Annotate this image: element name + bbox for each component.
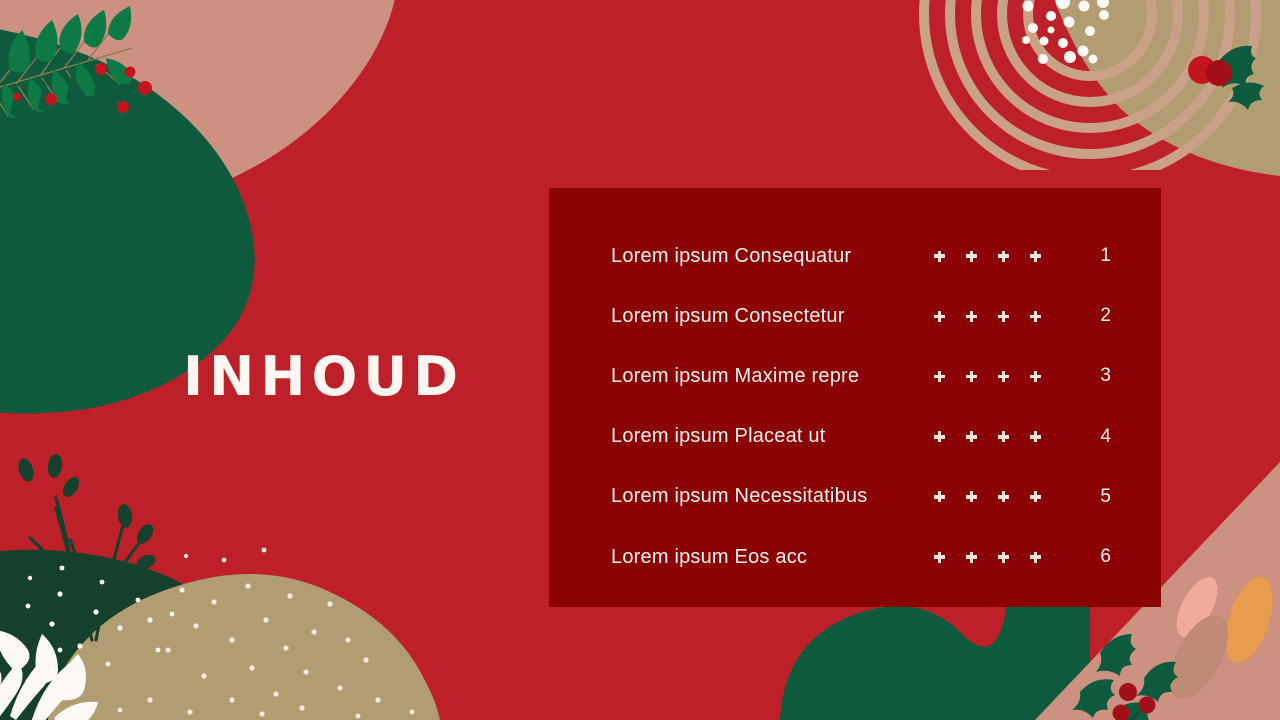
table-of-contents-list: Lorem ipsum Consequatur 1 Lorem ipsum Co… [611,226,1111,587]
toc-item-number: 1 [1085,245,1111,267]
toc-separator-group [934,251,1085,262]
toc-separator-group [934,552,1085,563]
list-item[interactable]: Lorem ipsum Necessitatibus 5 [611,467,1111,527]
decor-bottom-left [0,453,440,720]
quatrefoil-dot-icon [934,251,945,262]
decor-top-right [924,0,1280,180]
table-of-contents-panel: Lorem ipsum Consequatur 1 Lorem ipsum Co… [549,188,1161,607]
quatrefoil-dot-icon [998,552,1009,563]
list-item[interactable]: Lorem ipsum Consectetur 2 [611,286,1111,346]
leaf-shapes-top-left [0,6,132,118]
quatrefoil-dot-icon [1030,491,1041,502]
toc-separator-group [934,431,1085,442]
quatrefoil-dot-icon [934,371,945,382]
quatrefoil-dot-icon [934,491,945,502]
holly-top-right [1188,46,1264,110]
confetti-dots-top-right [1022,0,1109,64]
berry-sprigs-bottom-left [30,498,92,640]
quatrefoil-dot-icon [966,311,977,322]
toc-item-number: 3 [1085,365,1111,387]
toc-item-label: Lorem ipsum Eos acc [611,546,807,569]
quatrefoil-dot-icon [966,251,977,262]
branch-leaves-top-left [0,34,132,116]
list-item[interactable]: Lorem ipsum Eos acc 6 [611,527,1111,587]
toc-item-label: Lorem ipsum Maxime repre [611,365,859,388]
quatrefoil-dot-icon [1030,552,1041,563]
berry-sprigs-2-bottom-left [96,522,144,640]
page-title: INHOUD [183,350,464,404]
list-item[interactable]: Lorem ipsum Consequatur 1 [611,226,1111,286]
quatrefoil-dot-icon [1030,311,1041,322]
scallop-fringe-top-left [0,64,122,123]
toc-separator-group [934,491,1085,502]
quatrefoil-dot-icon [966,552,977,563]
snow-dots-scatter [118,548,415,719]
berries-top-left [13,63,152,113]
quatrefoil-dot-icon [1030,371,1041,382]
toc-item-label: Lorem ipsum Consequatur [611,245,851,268]
slide-canvas: INHOUD Lorem ipsum Consequatur 1 Lorem i… [0,0,1280,720]
toc-item-label: Lorem ipsum Necessitatibus [611,485,867,508]
toc-item-number: 6 [1085,546,1111,568]
toc-separator-group [934,371,1085,382]
quatrefoil-dot-icon [1030,431,1041,442]
toc-item-number: 4 [1085,426,1111,448]
quatrefoil-dot-icon [998,311,1009,322]
toc-item-number: 2 [1085,305,1111,327]
quatrefoil-dot-icon [934,311,945,322]
toc-separator-group [934,311,1085,322]
concentric-arcs [924,0,1256,180]
list-item[interactable]: Lorem ipsum Maxime repre 3 [611,346,1111,406]
toc-item-number: 5 [1085,486,1111,508]
toc-item-label: Lorem ipsum Consectetur [611,305,845,328]
quatrefoil-dot-icon [934,552,945,563]
list-item[interactable]: Lorem ipsum Placeat ut 4 [611,407,1111,467]
ornament-ellipses-bottom-right [1158,571,1280,708]
quatrefoil-dot-icon [1030,251,1041,262]
berry-buds-bottom-left [16,453,158,572]
quatrefoil-dot-icon [998,491,1009,502]
quatrefoil-dot-icon [934,431,945,442]
quatrefoil-dot-icon [998,251,1009,262]
quatrefoil-dot-icon [966,371,977,382]
white-fern-bottom-left [0,630,98,720]
toc-item-label: Lorem ipsum Placeat ut [611,425,826,448]
quatrefoil-dot-icon [966,491,977,502]
snow-dots-bottom-left [26,566,175,667]
quatrefoil-dot-icon [966,431,977,442]
holly-bottom-right [1072,634,1178,720]
quatrefoil-dot-icon [998,431,1009,442]
quatrefoil-dot-icon [998,371,1009,382]
